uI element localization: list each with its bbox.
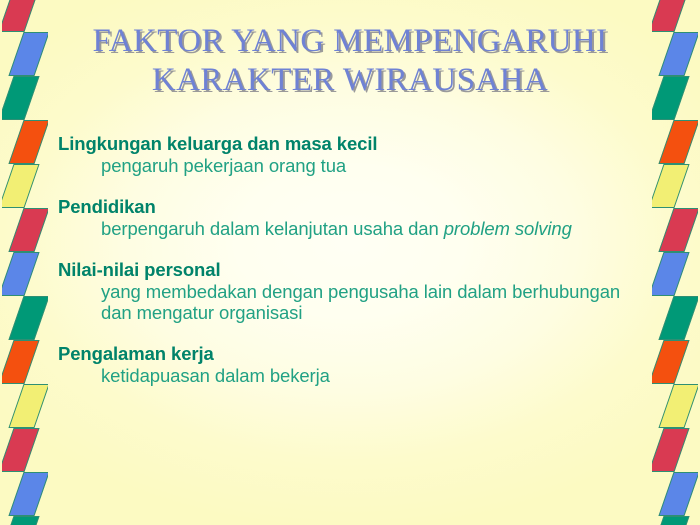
page-title: FAKTOR YANG MEMPENGARUHI KARAKTER WIRAUS… <box>60 22 640 100</box>
decor-parallelogram <box>8 32 48 76</box>
decor-parallelogram <box>652 164 690 208</box>
left-decor-strip <box>2 0 48 525</box>
decor-parallelogram <box>658 296 698 340</box>
section-heading: Nilai-nilai personal <box>58 258 634 281</box>
section-body-plain: berpengaruh dalam kelanjutan usaha dan <box>101 218 444 239</box>
decor-parallelogram <box>8 208 48 252</box>
section-body-italic: problem solving <box>444 218 572 239</box>
decor-parallelogram <box>652 516 690 525</box>
decor-parallelogram <box>652 252 690 296</box>
section-body-plain: yang membedakan dengan pengusaha lain da… <box>101 281 620 323</box>
decor-parallelogram <box>652 0 690 32</box>
decor-parallelogram <box>652 428 690 472</box>
decor-parallelogram <box>2 0 40 32</box>
decor-parallelogram <box>658 208 698 252</box>
decor-parallelogram <box>652 340 690 384</box>
decor-parallelogram <box>658 472 698 516</box>
decor-parallelogram <box>2 164 40 208</box>
decor-parallelogram <box>8 120 48 164</box>
decor-parallelogram <box>2 76 40 120</box>
decor-parallelogram <box>2 340 40 384</box>
decor-parallelogram <box>2 516 40 525</box>
section-heading: Pengalaman kerja <box>58 342 634 365</box>
content-section: Pengalaman kerja ketidapuasan dalam beke… <box>58 342 634 386</box>
decor-parallelogram <box>652 76 690 120</box>
content-body: Lingkungan keluarga dan masa kecil penga… <box>58 132 634 386</box>
decor-parallelogram <box>658 120 698 164</box>
decor-parallelogram <box>2 252 40 296</box>
decor-parallelogram <box>2 428 40 472</box>
section-body-plain: pengaruh pekerjaan orang tua <box>101 155 346 176</box>
section-body-plain: ketidapuasan dalam bekerja <box>101 365 330 386</box>
slide-canvas: FAKTOR YANG MEMPENGARUHI KARAKTER WIRAUS… <box>0 0 700 525</box>
title-line-1: FAKTOR YANG MEMPENGARUHI <box>60 22 640 61</box>
decor-parallelogram <box>8 472 48 516</box>
content-section: Pendidikan berpengaruh dalam kelanjutan … <box>58 195 634 239</box>
content-section: Lingkungan keluarga dan masa kecil penga… <box>58 132 634 176</box>
content-section: Nilai-nilai personal yang membedakan den… <box>58 258 634 323</box>
section-heading: Pendidikan <box>58 195 634 218</box>
section-body: berpengaruh dalam kelanjutan usaha dan p… <box>101 218 634 239</box>
section-body: pengaruh pekerjaan orang tua <box>101 155 634 176</box>
decor-parallelogram <box>8 384 48 428</box>
decor-parallelogram <box>658 32 698 76</box>
right-decor-strip <box>652 0 698 525</box>
section-body: yang membedakan dengan pengusaha lain da… <box>101 281 634 323</box>
section-body: ketidapuasan dalam bekerja <box>101 365 634 386</box>
decor-parallelogram <box>8 296 48 340</box>
decor-parallelogram <box>658 384 698 428</box>
title-line-2: KARAKTER WIRAUSAHA <box>60 61 640 100</box>
section-heading: Lingkungan keluarga dan masa kecil <box>58 132 634 155</box>
